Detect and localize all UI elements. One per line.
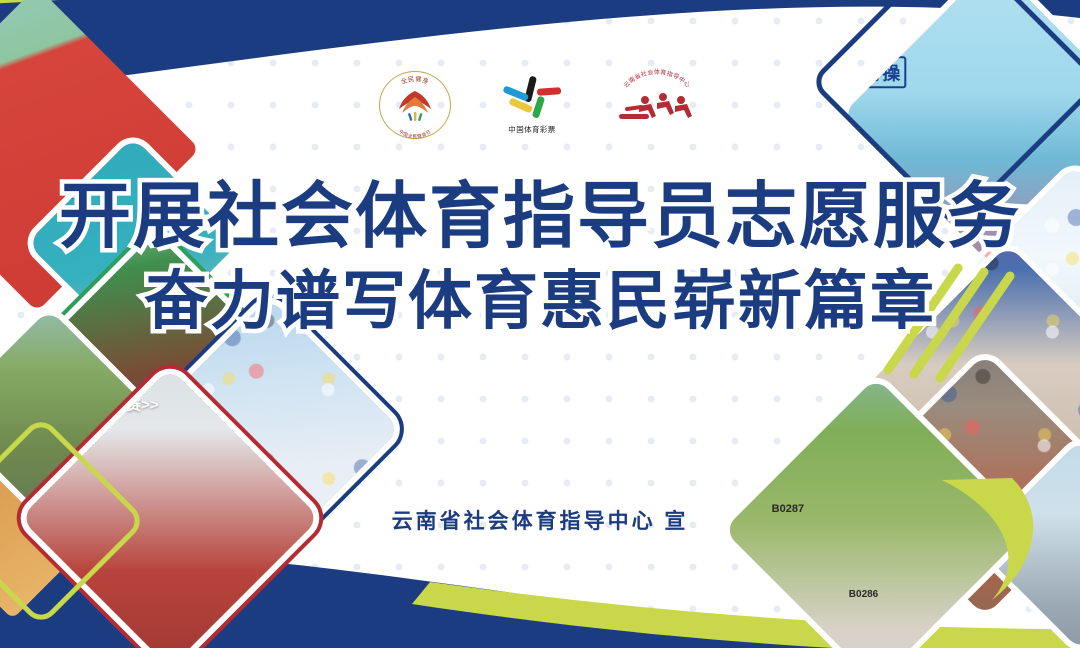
emblem-arc-top: 全民健身 <box>400 74 431 85</box>
runner-bib-number-2: B0286 <box>849 589 878 600</box>
logo-china-sports-lottery: 中国体育彩票 <box>499 74 565 135</box>
logo-row: 全民健身 中国全民健身日 <box>0 66 1080 143</box>
emblem-arc-bottom: 中国全民健身日 <box>398 128 433 140</box>
guidance-center-arc-text: 云南省社会体育指导中心 <box>623 68 692 89</box>
lottery-mark <box>499 74 565 122</box>
emblem-graphic: 全民健身 中国全民健身日 <box>377 69 453 141</box>
lottery-caption: 中国体育彩票 <box>499 124 565 135</box>
svg-text:全民健身: 全民健身 <box>400 74 431 85</box>
headline-block: 开展社会体育指导员志愿服务 奋力谱写体育惠民崭新篇章 <box>0 180 1080 334</box>
footer-caption: 云南省社会体育指导中心 宣 <box>0 505 1080 535</box>
headline-line-2: 奋力谱写体育惠民崭新篇章 <box>0 270 1080 334</box>
lime-swoosh-bottom <box>932 470 1080 620</box>
guidance-center-graphic: 云南省社会体育指导中心 <box>611 66 703 138</box>
poster-canvas: 社会体育指导员 志愿服务 云南省 动会 赛总决赛>> <box>0 0 1080 648</box>
svg-text:中国全民健身日: 中国全民健身日 <box>398 128 433 140</box>
logo-yunnan-guidance-center: 云南省社会体育指导中心 <box>611 66 703 143</box>
headline-line-1: 开展社会体育指导员志愿服务 <box>0 180 1080 252</box>
svg-text:云南省社会体育指导中心: 云南省社会体育指导中心 <box>623 68 692 89</box>
logo-national-fitness-emblem: 全民健身 中国全民健身日 <box>377 69 453 141</box>
